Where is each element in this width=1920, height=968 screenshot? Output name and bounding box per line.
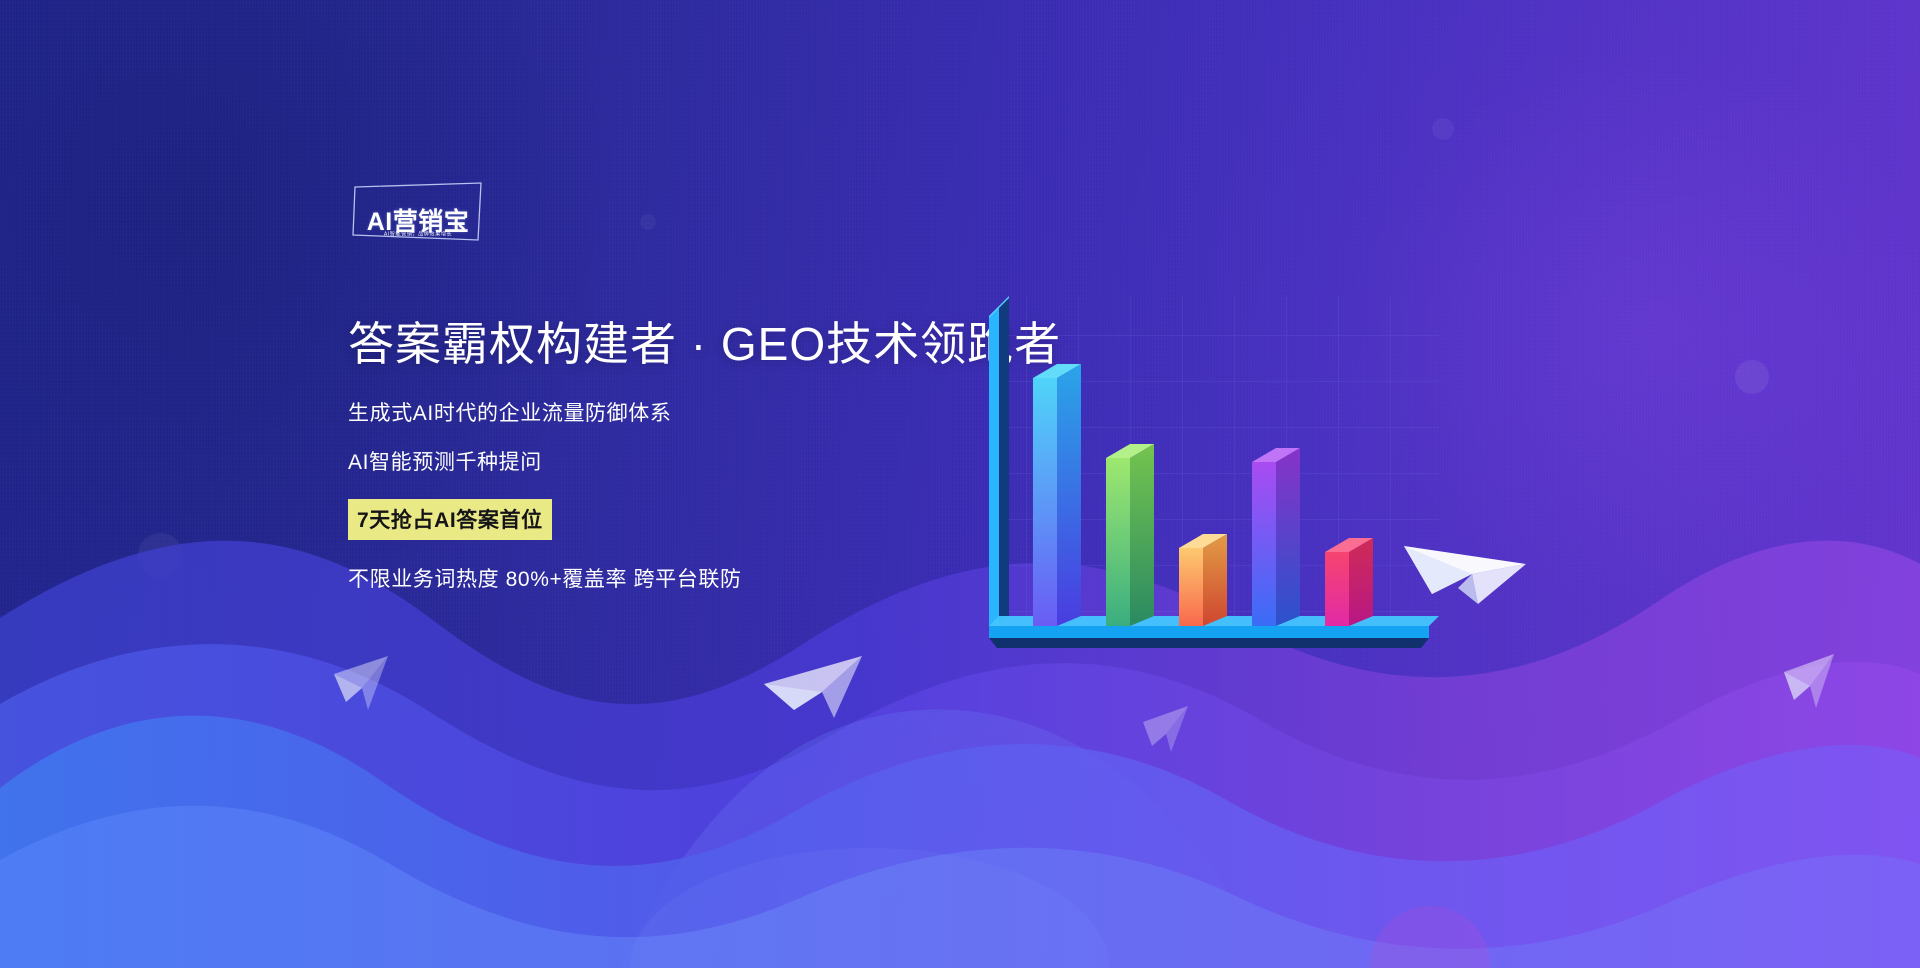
- hero-copy: 答案霸权构建者 · GEO技术领跑者 生成式AI时代的企业流量防御体系 AI智能…: [348, 318, 1048, 592]
- paper-plane-icon: [1398, 508, 1530, 612]
- hero-subline-4: 不限业务词热度 80%+覆盖率 跨平台联防: [348, 567, 1048, 592]
- decor-circle: [640, 214, 656, 230]
- chart-bar-4: [1252, 448, 1300, 626]
- hero-subline-2: AI智能预测千种提问: [348, 450, 1048, 475]
- paper-plane-icon: [1780, 648, 1842, 722]
- chart-bar-2: [1106, 444, 1154, 626]
- paper-plane-icon: [1140, 700, 1196, 762]
- paper-plane-icon: [330, 648, 396, 724]
- hero-banner: AI营销宝 AI智能营销，品牌效果增长 答案霸权构建者 · GEO技术领跑者 生…: [0, 0, 1920, 968]
- decor-circle: [1735, 360, 1769, 394]
- chart-bar-5: [1325, 538, 1373, 626]
- bar-chart-3d-icon: [975, 290, 1455, 680]
- chart-bar-3: [1179, 534, 1227, 626]
- paper-plane-icon: [760, 638, 870, 730]
- decor-circle: [1432, 118, 1454, 140]
- brand-logo[interactable]: AI营销宝 AI智能营销，品牌效果增长: [352, 182, 484, 244]
- chart-bar-1: [1033, 364, 1081, 626]
- hero-highlight-row: 7天抢占AI答案首位: [348, 499, 1048, 540]
- hero-highlight-badge: 7天抢占AI答案首位: [348, 499, 552, 540]
- hero-subline-1: 生成式AI时代的企业流量防御体系: [348, 401, 1048, 426]
- hero-headline: 答案霸权构建者 · GEO技术领跑者: [348, 318, 1048, 371]
- logo-tagline: AI智能营销，品牌效果增长: [384, 230, 452, 238]
